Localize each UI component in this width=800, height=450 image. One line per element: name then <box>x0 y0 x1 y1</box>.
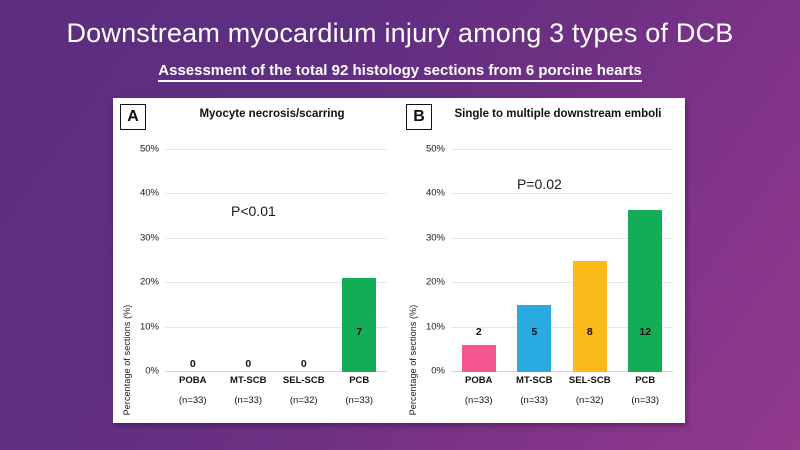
bar-value-pcb-a: 7 <box>356 326 362 338</box>
bar-pcb-b[interactable]: 12 <box>628 210 662 372</box>
x-label-selscb-a: SEL-SCB (n=32) <box>276 375 332 406</box>
page-subtitle: Assessment of the total 92 histology sec… <box>0 62 800 79</box>
panel-title-a: Myocyte necrosis/scarring <box>153 107 391 121</box>
x-n-pcb-a: (n=33) <box>332 395 388 406</box>
x-name-poba-a: POBA <box>165 375 221 386</box>
y-tick-10-a: 10% <box>140 321 159 332</box>
x-label-poba-a: POBA (n=33) <box>165 375 221 406</box>
x-name-selscb-a: SEL-SCB <box>276 375 332 386</box>
y-tick-30-a: 30% <box>140 232 159 243</box>
plot-area-b: 50% 40% 30% 20% 10% 0% 2 5 <box>451 150 673 372</box>
chart-panel-a: A Myocyte necrosis/scarring Percentage o… <box>113 98 399 423</box>
bar-value-mtscb-b: 5 <box>531 326 537 338</box>
x-n-selscb-b: (n=32) <box>562 395 618 406</box>
y-tick-10-b: 10% <box>426 321 445 332</box>
bar-pcb-a[interactable]: 7 <box>342 278 376 372</box>
x-label-selscb-b: SEL-SCB (n=32) <box>562 375 618 406</box>
x-n-mtscb-a: (n=33) <box>221 395 277 406</box>
x-name-mtscb-b: MT-SCB <box>507 375 563 386</box>
y-tick-0-a: 0% <box>145 366 159 377</box>
x-name-pcb-b: PCB <box>618 375 674 386</box>
y-tick-50-a: 50% <box>140 144 159 155</box>
bar-slot-poba-a: 0 <box>165 150 221 372</box>
plot-area-a: 50% 40% 30% 20% 10% 0% 0 0 <box>165 150 387 372</box>
x-name-poba-b: POBA <box>451 375 507 386</box>
x-name-mtscb-a: MT-SCB <box>221 375 277 386</box>
panel-title-b: Single to multiple downstream emboli <box>439 107 677 121</box>
slide-root: Downstream myocardium injury among 3 typ… <box>0 0 800 450</box>
panel-badge-b: B <box>406 104 432 130</box>
x-name-pcb-a: PCB <box>332 375 388 386</box>
bar-value-selscb-a: 0 <box>301 358 307 370</box>
x-label-mtscb-a: MT-SCB (n=33) <box>221 375 277 406</box>
x-label-mtscb-b: MT-SCB (n=33) <box>507 375 563 406</box>
bar-slot-poba-b: 2 <box>451 150 507 372</box>
bar-value-mtscb-a: 0 <box>245 358 251 370</box>
x-axis-labels-a: POBA (n=33) MT-SCB (n=33) SEL-SCB (n=32)… <box>165 375 387 406</box>
panel-badge-a: A <box>120 104 146 130</box>
bar-mtscb-b[interactable]: 5 <box>517 305 551 372</box>
x-n-mtscb-b: (n=33) <box>507 395 563 406</box>
bar-slot-pcb-b: 12 <box>618 150 674 372</box>
bar-slot-pcb-a: 7 <box>332 150 388 372</box>
bar-slot-selscb-a: 0 <box>276 150 332 372</box>
x-n-selscb-a: (n=32) <box>276 395 332 406</box>
bar-slot-mtscb-b: 5 <box>507 150 563 372</box>
y-tick-20-a: 20% <box>140 277 159 288</box>
x-n-pcb-b: (n=33) <box>618 395 674 406</box>
x-name-selscb-b: SEL-SCB <box>562 375 618 386</box>
y-axis-label-a: Percentage of sections (%) <box>122 305 132 416</box>
bar-selscb-b[interactable]: 8 <box>573 261 607 372</box>
y-tick-40-a: 40% <box>140 188 159 199</box>
bar-value-pcb-b: 12 <box>639 326 651 338</box>
figure-card: A Myocyte necrosis/scarring Percentage o… <box>113 98 685 423</box>
y-axis-label-b: Percentage of sections (%) <box>408 305 418 416</box>
bar-slot-mtscb-a: 0 <box>221 150 277 372</box>
x-label-pcb-a: PCB (n=33) <box>332 375 388 406</box>
y-tick-0-b: 0% <box>431 366 445 377</box>
y-tick-50-b: 50% <box>426 144 445 155</box>
page-subtitle-text: Assessment of the total 92 histology sec… <box>158 62 641 82</box>
y-tick-20-b: 20% <box>426 277 445 288</box>
bar-value-poba-b: 2 <box>476 326 482 338</box>
x-n-poba-a: (n=33) <box>165 395 221 406</box>
x-n-poba-b: (n=33) <box>451 395 507 406</box>
bar-value-poba-a: 0 <box>190 358 196 370</box>
chart-panel-b: B Single to multiple downstream emboli P… <box>399 98 685 423</box>
bar-value-selscb-b: 8 <box>587 326 593 338</box>
x-axis-labels-b: POBA (n=33) MT-SCB (n=33) SEL-SCB (n=32)… <box>451 375 673 406</box>
x-label-poba-b: POBA (n=33) <box>451 375 507 406</box>
bar-series-a: 0 0 0 7 <box>165 150 387 372</box>
x-label-pcb-b: PCB (n=33) <box>618 375 674 406</box>
y-tick-30-b: 30% <box>426 232 445 243</box>
bar-slot-selscb-b: 8 <box>562 150 618 372</box>
bar-poba-b[interactable]: 2 <box>462 345 496 372</box>
bar-series-b: 2 5 8 12 <box>451 150 673 372</box>
y-tick-40-b: 40% <box>426 188 445 199</box>
page-title: Downstream myocardium injury among 3 typ… <box>0 18 800 49</box>
